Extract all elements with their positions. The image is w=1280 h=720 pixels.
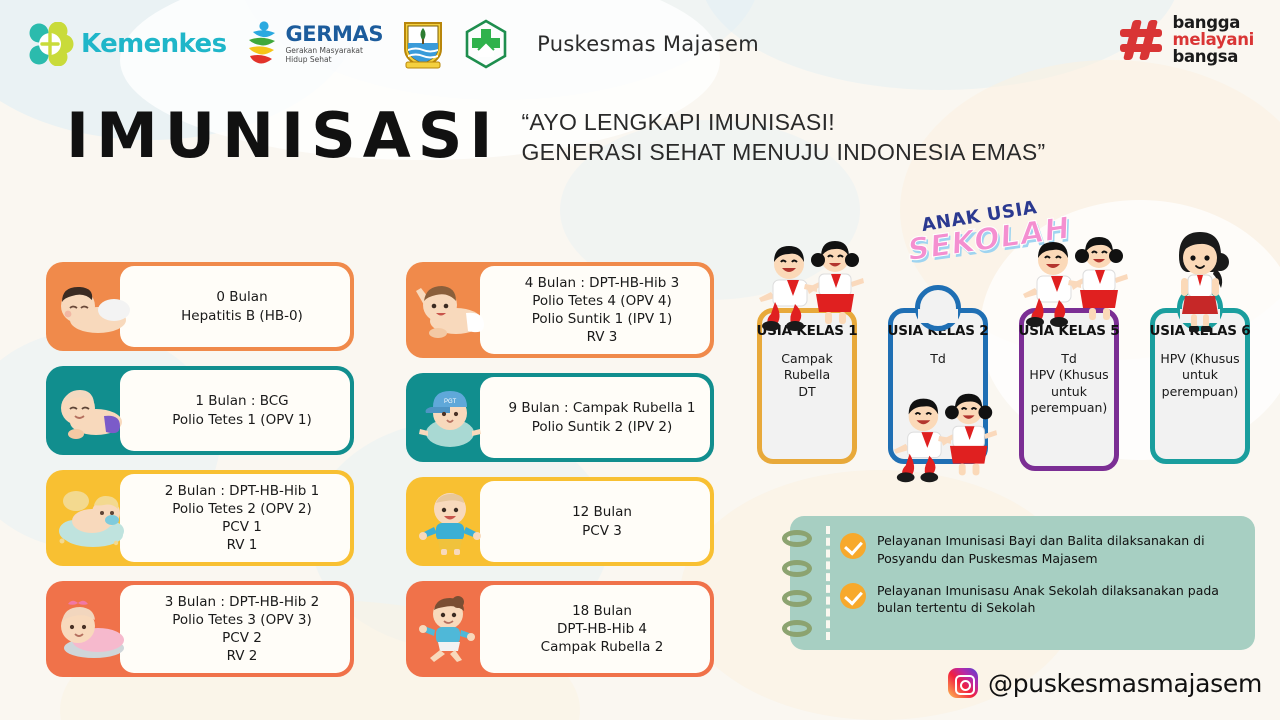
school-card-lines-kelas-6: HPV (Khususuntukperempuan) — [1160, 351, 1239, 400]
school-card-kelas-5-line-2: HPV (Khusus — [1029, 367, 1108, 383]
card-1-bulan-text: 1 Bulan : BCGPolio Tetes 1 (OPV 1) — [120, 370, 350, 451]
hashtag-icon — [1120, 18, 1164, 62]
slogan: “AYO LENGKAPI IMUNISASI! GENERASI SEHAT … — [521, 108, 1045, 168]
kemenkes-logo: Kemenkes — [28, 22, 226, 66]
card-1-bulan[interactable]: 1 Bulan : BCGPolio Tetes 1 (OPV 1) — [46, 366, 354, 455]
school-card-kelas-6-line-2: untuk — [1160, 367, 1239, 383]
card-3-bulan-line-4: RV 2 — [227, 647, 258, 665]
card-3-bulan-line-1: 3 Bulan : DPT-HB-Hib 2 — [165, 593, 319, 611]
running-girl-icon — [410, 585, 496, 673]
card-0-bulan-line-1: 0 Bulan — [216, 288, 267, 306]
check-circle-icon — [840, 583, 866, 609]
schedule-column-left: 0 BulanHepatitis B (HB-0) 1 Bulan : BCGP… — [46, 262, 354, 692]
school-age-section: SEKOLAH SEKOLAH ANAK USIA — [745, 196, 1265, 486]
card-4-bulan-line-4: RV 3 — [587, 328, 618, 346]
card-2-bulan-line-4: RV 1 — [227, 536, 258, 554]
card-12-bulan[interactable]: 12 BulanPCV 3 — [406, 477, 714, 566]
bangga-line2: melayani — [1172, 31, 1254, 48]
card-18-bulan-line-3: Campak Rubella 2 — [541, 638, 664, 656]
kemenkes-wordmark: Kemenkes — [81, 29, 226, 59]
card-18-bulan[interactable]: 18 BulanDPT-HB-Hib 4Campak Rubella 2 — [406, 581, 714, 677]
page-title: IMUNISASI — [66, 105, 499, 167]
germas-sub-line2: Hidup Sehat — [285, 55, 383, 64]
card-2-bulan-line-2: Polio Tetes 2 (OPV 2) — [172, 500, 311, 518]
instagram-handle[interactable]: @puskesmasmajasem — [988, 669, 1262, 698]
card-18-bulan-line-2: DPT-HB-Hib 4 — [557, 620, 647, 638]
card-notch-circle — [915, 285, 961, 331]
card-3-bulan[interactable]: 3 Bulan : DPT-HB-Hib 2Polio Tetes 3 (OPV… — [46, 581, 354, 677]
schedule-column-right: 4 Bulan : DPT-HB-Hib 3Polio Tetes 4 (OPV… — [406, 262, 714, 692]
card-4-bulan-line-3: Polio Suntik 1 (IPV 1) — [532, 310, 672, 328]
card-4-bulan[interactable]: 4 Bulan : DPT-HB-Hib 3Polio Tetes 4 (OPV… — [406, 262, 714, 358]
note-text-1: Pelayanan Imunisasi Bayi dan Balita dila… — [877, 532, 1239, 568]
bangga-line3: bangsa — [1172, 48, 1254, 65]
card-3-bulan-line-3: PCV 2 — [222, 629, 262, 647]
instagram-icon[interactable] — [948, 668, 978, 698]
slogan-line-2: GENERASI SEHAT MENUJU INDONESIA EMAS” — [521, 138, 1045, 168]
germas-logo: GERMAS Gerakan Masyarakat Hidup Sehat — [244, 20, 383, 68]
card-9-bulan-line-1: 9 Bulan : Campak Rubella 1 — [508, 399, 695, 417]
card-1-bulan-line-1: 1 Bulan : BCG — [195, 392, 288, 410]
card-18-bulan-text: 18 BulanDPT-HB-Hib 4Campak Rubella 2 — [480, 585, 710, 673]
waving-baby-icon — [410, 266, 496, 354]
school-card-lines-kelas-5: TdHPV (Khususuntukperempuan) — [1029, 351, 1108, 416]
kids-illustration-kelas1 — [753, 240, 873, 332]
school-card-kelas-5-line-4: perempuan) — [1029, 400, 1108, 416]
note-item-1: Pelayanan Imunisasi Bayi dan Balita dila… — [840, 532, 1239, 568]
page-header: Kemenkes GERMAS Gerakan Masyarakat Hidup… — [0, 0, 1280, 88]
check-circle-icon — [840, 533, 866, 559]
kids-illustration-kelas2 — [888, 392, 1006, 484]
card-9-bulan-line-2: Polio Suntik 2 (IPV 2) — [532, 418, 672, 436]
instagram-block[interactable]: @puskesmasmajasem — [948, 668, 1262, 698]
pink-baby-icon — [50, 585, 136, 673]
card-4-bulan-line-1: 4 Bulan : DPT-HB-Hib 3 — [525, 274, 679, 292]
school-card-kelas-5-line-1: Td — [1029, 351, 1108, 367]
svg-text:PGT: PGT — [444, 399, 457, 405]
card-12-bulan-text: 12 BulanPCV 3 — [480, 481, 710, 562]
school-card-kelas-6-line-3: perempuan) — [1160, 384, 1239, 400]
notes-box: Pelayanan Imunisasi Bayi dan Balita dila… — [790, 516, 1255, 650]
cloud-baby-icon — [50, 474, 136, 562]
logo-group: Kemenkes GERMAS Gerakan Masyarakat Hidup… — [28, 19, 759, 69]
bangga-melayani-bangsa-logo: bangga melayani bangsa — [1120, 14, 1254, 65]
school-card-kelas-2-line-1: Td — [930, 351, 946, 367]
card-18-bulan-line-1: 18 Bulan — [572, 602, 632, 620]
school-card-kelas-5-line-3: untuk — [1029, 384, 1108, 400]
school-card-lines-kelas-2: Td — [930, 351, 946, 367]
germas-icon — [244, 20, 280, 68]
card-12-bulan-line-2: PCV 3 — [582, 522, 622, 540]
note-item-2: Pelayanan Imunisasu Anak Sekolah dilaksa… — [840, 582, 1239, 618]
cap-baby-icon: PGT — [410, 377, 496, 458]
spiral-binding — [782, 530, 822, 638]
notes-dashed-margin — [826, 526, 830, 640]
card-1-bulan-line-2: Polio Tetes 1 (OPV 1) — [172, 411, 311, 429]
card-2-bulan-line-3: PCV 1 — [222, 518, 262, 536]
card-12-bulan-line-1: 12 Bulan — [572, 503, 632, 521]
puskesmas-name: Puskesmas Majasem — [537, 32, 759, 56]
card-4-bulan-line-2: Polio Tetes 4 (OPV 4) — [532, 292, 671, 310]
germas-sub-line1: Gerakan Masyarakat — [285, 46, 383, 55]
puskesmas-logo-icon — [463, 19, 509, 69]
card-3-bulan-line-2: Polio Tetes 3 (OPV 3) — [172, 611, 311, 629]
note-text-2: Pelayanan Imunisasu Anak Sekolah dilaksa… — [877, 582, 1239, 618]
card-0-bulan-text: 0 BulanHepatitis B (HB-0) — [120, 266, 350, 347]
card-notch-cover — [918, 309, 958, 323]
school-card-kelas-1-line-2: Rubella — [781, 367, 832, 383]
school-card-lines-kelas-1: CampakRubellaDT — [781, 351, 832, 400]
card-4-bulan-text: 4 Bulan : DPT-HB-Hib 3Polio Tetes 4 (OPV… — [480, 266, 710, 354]
school-card-kelas-1-line-3: DT — [781, 384, 832, 400]
girl-illustration-kelas6 — [1163, 226, 1237, 336]
card-9-bulan[interactable]: PGT 9 Bulan : Campak Rubella 1Polio Sunt… — [406, 373, 714, 462]
germas-wordmark: GERMAS — [285, 24, 383, 45]
card-3-bulan-text: 3 Bulan : DPT-HB-Hib 2Polio Tetes 3 (OPV… — [120, 585, 350, 673]
title-block: IMUNISASI “AYO LENGKAPI IMUNISASI! GENER… — [66, 104, 1045, 168]
toddler-blue-icon — [410, 481, 496, 562]
slogan-line-1: “AYO LENGKAPI IMUNISASI! — [521, 108, 1045, 138]
sleeping-baby-icon — [50, 266, 136, 347]
kemenkes-icon — [28, 22, 74, 66]
school-card-kelas-5[interactable]: USIA KELAS 5TdHPV (Khususuntukperempuan) — [1019, 308, 1119, 471]
card-2-bulan-line-1: 2 Bulan : DPT-HB-Hib 1 — [165, 482, 319, 500]
school-card-kelas-1-line-1: Campak — [781, 351, 832, 367]
notes-list: Pelayanan Imunisasi Bayi dan Balita dila… — [840, 532, 1239, 617]
kids-illustration-kelas5 — [1017, 236, 1137, 328]
bangga-line1: bangga — [1172, 14, 1254, 31]
card-0-bulan[interactable]: 0 BulanHepatitis B (HB-0) — [46, 262, 354, 351]
card-2-bulan-text: 2 Bulan : DPT-HB-Hib 1Polio Tetes 2 (OPV… — [120, 474, 350, 562]
crawling-baby-icon — [50, 370, 136, 451]
school-card-kelas-6-line-1: HPV (Khusus — [1160, 351, 1239, 367]
kota-bandung-crest-icon — [401, 19, 445, 69]
card-0-bulan-line-2: Hepatitis B (HB-0) — [181, 307, 303, 325]
card-9-bulan-text: 9 Bulan : Campak Rubella 1Polio Suntik 2… — [480, 377, 710, 458]
card-2-bulan[interactable]: 2 Bulan : DPT-HB-Hib 1Polio Tetes 2 (OPV… — [46, 470, 354, 566]
